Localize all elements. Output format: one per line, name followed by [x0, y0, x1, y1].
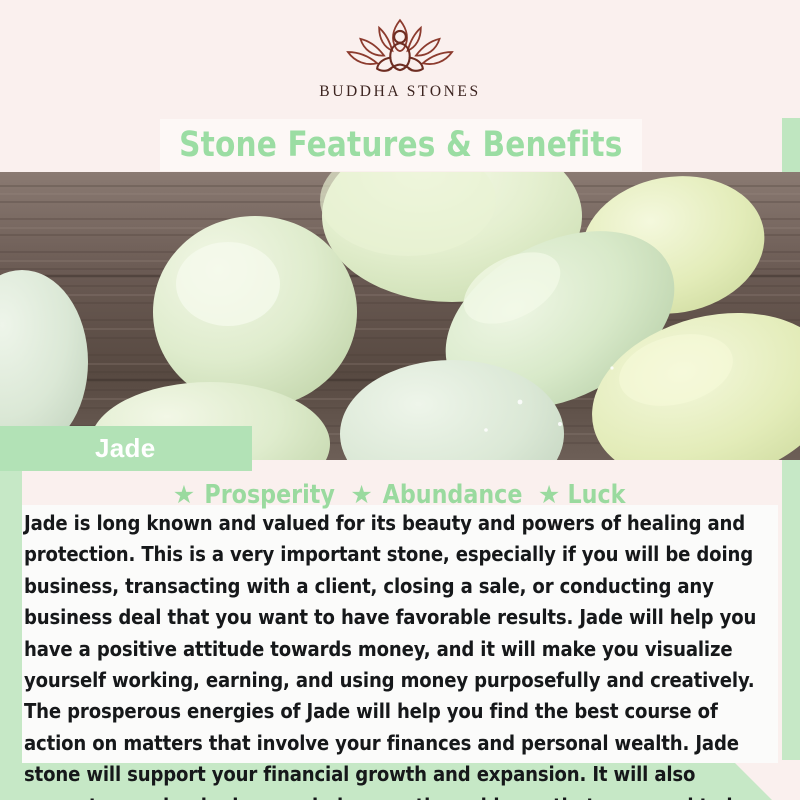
keyword-item: ★ Prosperity	[173, 480, 339, 510]
description-text: Jade is long known and valued for its be…	[24, 508, 765, 800]
stone-benefits-card: BUDDHA STONES Stone Features & Benefits	[0, 0, 800, 800]
section-title-banner: Stone Features & Benefits	[160, 119, 642, 171]
brand-header: BUDDHA STONES	[0, 0, 800, 118]
star-icon: ★	[173, 483, 195, 508]
description-panel: Jade is long known and valued for its be…	[22, 505, 778, 763]
brand-wordmark: BUDDHA STONES	[319, 83, 480, 101]
star-icon: ★	[538, 483, 560, 508]
keyword-row: ★ Prosperity ★ Abundance ★ Luck	[0, 478, 800, 512]
keyword-item: ★ Abundance	[350, 480, 526, 510]
lotus-meditation-icon	[341, 16, 459, 78]
page-title: Stone Features & Benefits	[179, 125, 622, 165]
keyword-label: Prosperity	[205, 480, 335, 510]
keyword-item: ★ Luck	[538, 480, 627, 510]
stone-name-banner: Jade	[0, 426, 252, 471]
star-icon: ★	[350, 483, 372, 508]
keyword-label: Luck	[568, 480, 626, 510]
keyword-label: Abundance	[382, 480, 522, 510]
stone-photo	[0, 172, 800, 460]
stone-name: Jade	[95, 433, 155, 464]
